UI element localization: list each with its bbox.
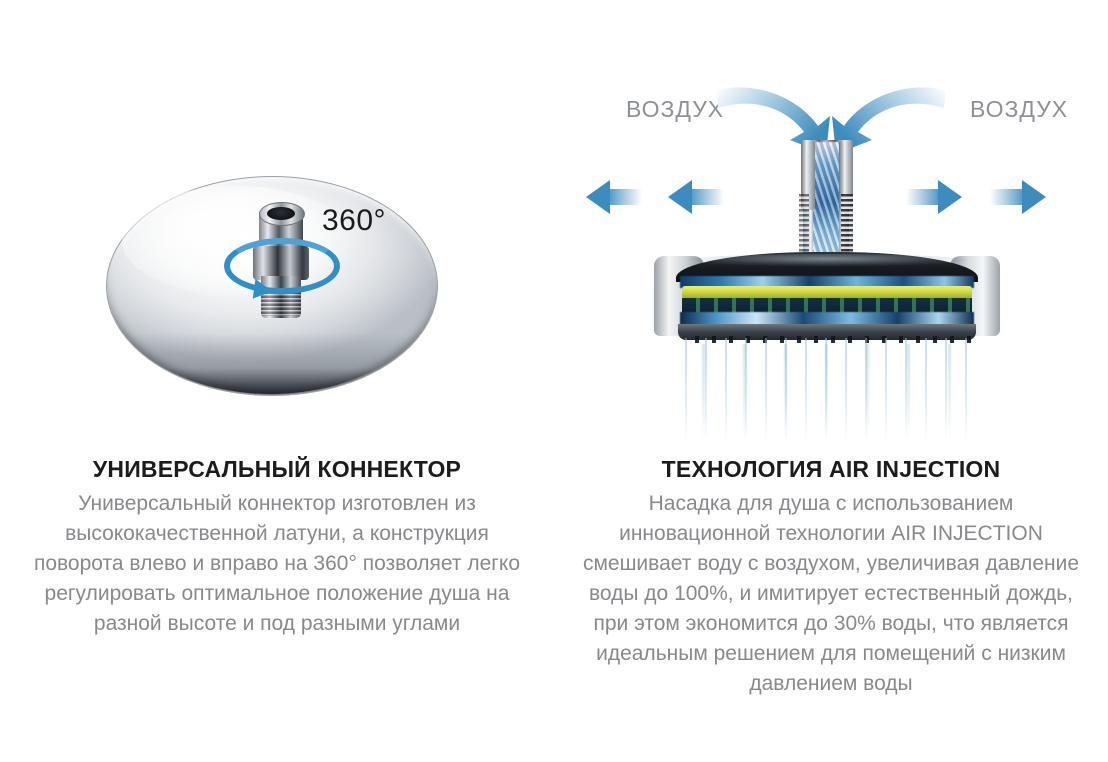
panel-title: ТЕХНОЛОГИЯ AIR INJECTION <box>554 456 1108 483</box>
water-spray-secondary <box>680 344 974 440</box>
nozzle-water-swirl <box>813 142 839 268</box>
caption-universal-connector: УНИВЕРСАЛЬНЫЙ КОННЕКТОР Универсальный ко… <box>0 456 554 639</box>
rotation-ring-icon <box>224 238 340 294</box>
figure-air-injection: ВОЗДУХ ВОЗДУХ <box>554 0 1108 450</box>
air-outflow-arrow-right-outer-icon <box>990 180 1046 214</box>
rotation-degree-label: 360° <box>322 204 386 238</box>
arrow-shaft <box>990 189 1024 205</box>
nozzle-threads-right <box>841 194 853 252</box>
rotation-arrow-icon <box>253 279 274 301</box>
shower-head-disc-illustration <box>106 176 436 396</box>
air-label-right: ВОЗДУХ <box>970 96 1068 123</box>
arrow-head <box>1022 180 1046 214</box>
nozzle-threads-left <box>799 194 809 252</box>
arrow-shaft <box>906 189 940 205</box>
arrow-shaft <box>690 189 724 205</box>
head-top-highlight <box>688 254 966 266</box>
panel-body-text: Универсальный коннектор изготовлен из вы… <box>0 489 554 639</box>
air-label-left: ВОЗДУХ <box>626 96 724 123</box>
product-feature-infographic: 360° УНИВЕРСАЛЬНЫЙ КОННЕКТОР Универсальн… <box>0 0 1108 762</box>
panel-universal-connector: 360° УНИВЕРСАЛЬНЫЙ КОННЕКТОР Универсальн… <box>0 0 554 762</box>
caption-air-injection: ТЕХНОЛОГИЯ AIR INJECTION Насадка для душ… <box>554 456 1108 699</box>
air-outflow-arrow-left-outer-icon <box>586 180 642 214</box>
panel-body-text: Насадка для душа с использованием иннова… <box>554 489 1108 699</box>
panel-air-injection: ВОЗДУХ ВОЗДУХ <box>554 0 1108 762</box>
air-outflow-arrow-left-inner-icon <box>668 180 724 214</box>
arrow-head <box>938 180 962 214</box>
arrow-head <box>668 180 692 214</box>
air-outflow-arrow-right-inner-icon <box>906 180 962 214</box>
arrow-head <box>586 180 610 214</box>
arrow-shaft <box>608 189 642 205</box>
nozzle-cutaway <box>795 140 857 268</box>
figure-shower-head-disc: 360° <box>0 0 554 450</box>
panel-title: УНИВЕРСАЛЬНЫЙ КОННЕКТОР <box>0 456 554 483</box>
shower-head-cross-section <box>654 252 1000 342</box>
connector-bore <box>267 207 295 220</box>
